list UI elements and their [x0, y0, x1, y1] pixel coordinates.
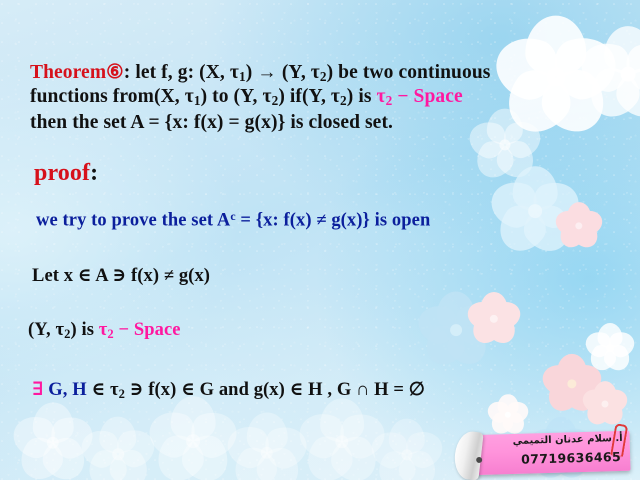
proof-step-space-b: ) is: [71, 320, 99, 340]
proof-step-exists-middle-a: ∈ τ: [87, 380, 119, 400]
theorem-line-1-c: ) be two continuous: [327, 62, 491, 83]
theorem-line-2-c: ) if(Y, τ: [278, 86, 340, 107]
proof-step-exists-sets: G, H: [44, 380, 87, 400]
signature-author-name: أ. سلام عدنان التميمي: [513, 433, 623, 447]
proof-step-exists: ∃ G, H ∈ τ2 ∋ f(x) ∈ G and g(x) ∈ H , G …: [32, 379, 425, 402]
proof-step-space-label: − Space: [114, 320, 181, 340]
theorem-number-icon: ⑥: [106, 62, 124, 83]
proof-heading-colon: :: [90, 160, 98, 186]
theorem-line-2-a: functions from(X, τ: [30, 86, 194, 107]
theorem-line-1-b: ) → (Y, τ: [246, 62, 320, 83]
proof-goal-a: we try to prove the set A: [36, 210, 230, 230]
proof-heading: proof:: [34, 160, 98, 187]
signature-phone-number: 07719636465: [521, 449, 621, 467]
theorem-line-3: then the set A = {x: f(x) = g(x)} is clo…: [30, 112, 393, 134]
theorem-line-2-sub-c: 2: [340, 93, 347, 108]
theorem-line-2-d: ) is: [347, 86, 377, 107]
theorem-line-1-a: let f, g: (X, τ: [130, 62, 239, 83]
exists-symbol-icon: ∃: [32, 380, 44, 400]
proof-goal-line: we try to prove the set Ac = {x: f(x) ≠ …: [36, 209, 430, 231]
theorem-line-2-b: ) to (Y, τ: [201, 86, 272, 107]
signature-note: أ. سلام عدنان التميمي 07719636465: [466, 431, 630, 476]
proof-step-space: (Y, τ2) is τ2 − Space: [28, 320, 181, 342]
theorem-line-1-sub-a: 1: [239, 69, 246, 84]
theorem-t2-space-tau: τ: [377, 86, 386, 107]
theorem-line-1: Theorem⑥: let f, g: (X, τ1) → (Y, τ2) be…: [30, 60, 490, 85]
slide-text-content: Theorem⑥: let f, g: (X, τ1) → (Y, τ2) be…: [0, 0, 640, 480]
proof-step-let: Let x ∈ A ∋ f(x) ≠ g(x): [32, 265, 210, 287]
theorem-line-1-sub-b: 2: [320, 69, 327, 84]
proof-step-exists-middle-b: ∋ f(x) ∈ G and g(x) ∈ H , G ∩ H = ∅: [125, 380, 425, 400]
proof-step-space-a: (Y, τ: [28, 320, 64, 340]
theorem-label: Theorem: [30, 62, 106, 83]
bullet-icon: [476, 457, 482, 463]
proof-heading-label: proof: [34, 160, 90, 186]
theorem-t2-space-label: − Space: [392, 86, 462, 107]
theorem-line-2-sub-a: 1: [194, 93, 201, 108]
slide-canvas: Theorem⑥: let f, g: (X, τ1) → (Y, τ2) be…: [0, 0, 640, 480]
proof-goal-b: = {x: f(x) ≠ g(x)} is open: [236, 210, 431, 230]
theorem-line-2: functions from(X, τ1) to (Y, τ2) if(Y, τ…: [30, 86, 463, 109]
